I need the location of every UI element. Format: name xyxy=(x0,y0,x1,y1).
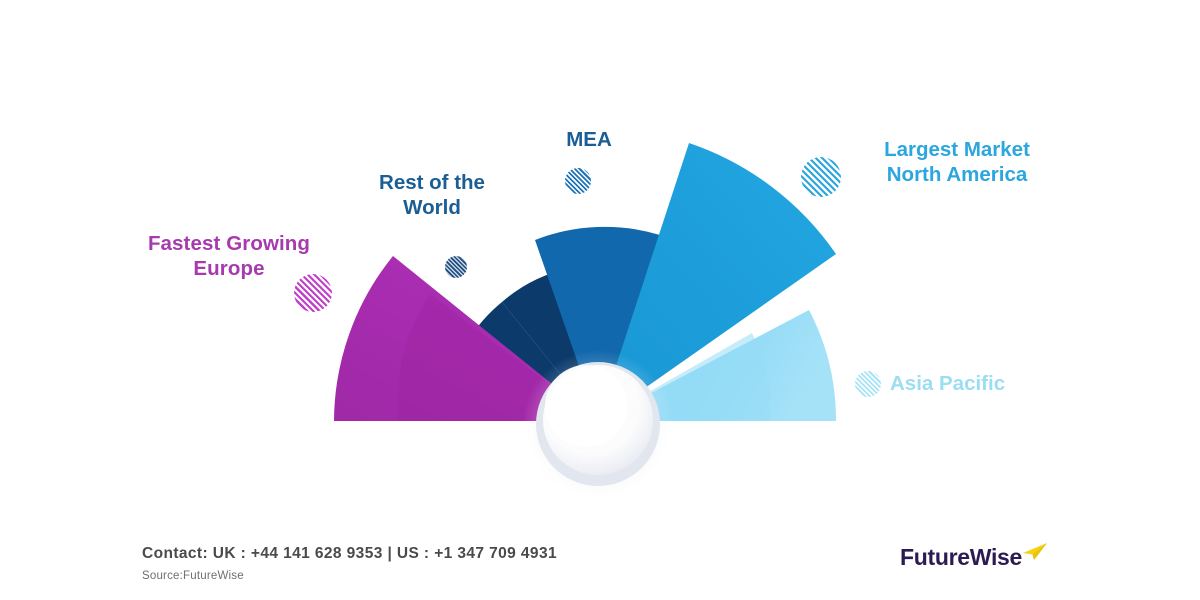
paper-plane-icon xyxy=(1022,542,1048,562)
label-na-line1: Largest Market xyxy=(852,137,1062,162)
logo-wordmark: FutureWise xyxy=(900,544,1022,571)
footer-contact-text: Contact: UK : +44 141 628 9353 | US : +1… xyxy=(142,545,557,563)
legend-dot-mea-icon xyxy=(565,168,591,194)
logo-name-part1: Future xyxy=(900,544,970,570)
legend-dot-north-america-icon xyxy=(801,157,841,197)
label-europe: Fastest Growing Europe xyxy=(118,231,340,281)
regional-fan-chart xyxy=(0,0,1200,600)
logo-name-part2: Wise xyxy=(970,544,1022,570)
label-row-line1: Rest of the xyxy=(352,170,512,195)
label-mea-line1: MEA xyxy=(528,127,650,152)
label-row-line2: World xyxy=(352,195,512,220)
footer-source-text: Source:FutureWise xyxy=(142,570,244,582)
legend-dot-europe-icon xyxy=(294,274,332,312)
futurewise-logo[interactable]: FutureWise xyxy=(900,544,1060,588)
label-rest-of-world: Rest of the World xyxy=(352,170,512,220)
hub-disc-highlight xyxy=(545,365,627,447)
label-asia-pacific: Asia Pacific xyxy=(890,371,1005,396)
label-ap-line1: Asia Pacific xyxy=(890,371,1005,396)
label-na-line2: North America xyxy=(852,162,1062,187)
label-europe-line1: Fastest Growing xyxy=(118,231,340,256)
legend-dot-rest-of-world-icon xyxy=(445,256,467,278)
infographic-canvas: Fastest Growing Europe Rest of the World… xyxy=(0,0,1200,600)
label-mea: MEA xyxy=(528,127,650,152)
legend-dot-asia-pacific-icon xyxy=(855,371,881,397)
label-north-america: Largest Market North America xyxy=(852,137,1062,187)
